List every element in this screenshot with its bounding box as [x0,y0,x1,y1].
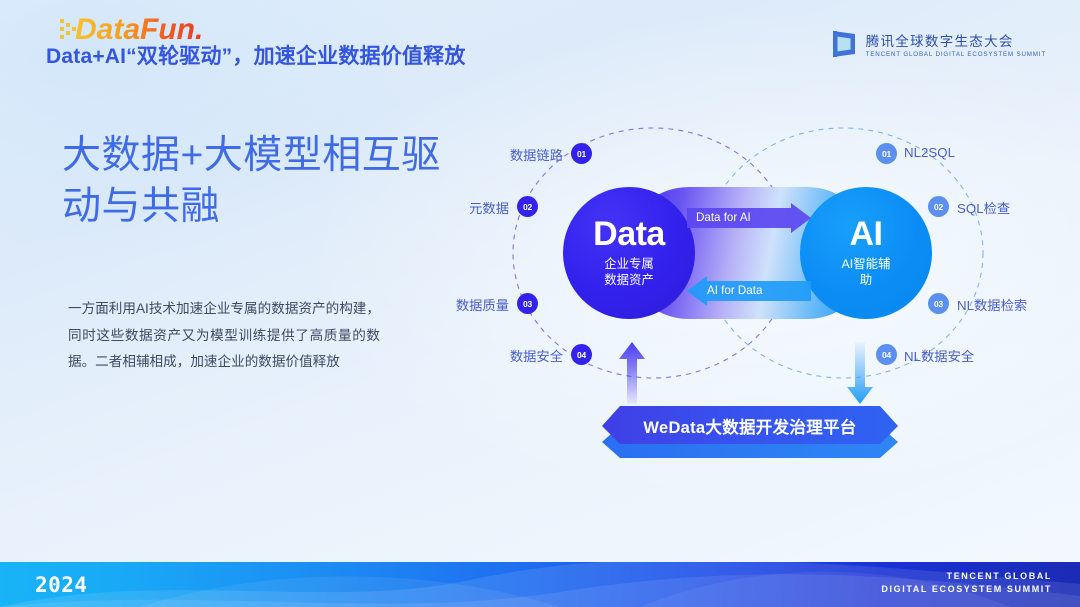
data-circle: Data 企业专属 数据资产 [563,187,695,319]
footer-year: 2024 [35,573,88,597]
footer-summit-name: TENCENT GLOBAL DIGITAL ECOSYSTEM SUMMIT [881,570,1052,596]
tencent-logo-cn: 腾讯全球数字生态大会 [866,30,1046,50]
label-right-03: NL数据检索 [957,295,1027,314]
label-right-04: NL数据安全 [904,346,974,365]
badge-right-03[interactable]: 03 [928,293,949,314]
tencent-logo-en: TENCENT GLOBAL DIGITAL ECOSYSTEM SUMMIT [866,51,1046,58]
label-left-01: 数据链路 [425,145,563,164]
label-right-01: NL2SQL [904,145,955,160]
page-title: Data+AI“双轮驱动”，加速企业数据价值释放 [46,40,466,70]
up-arrow-icon [619,342,645,404]
badge-right-04[interactable]: 04 [876,344,897,365]
ai-for-data-label: AI for Data [707,284,762,297]
down-arrow-icon [847,342,873,404]
badge-left-04[interactable]: 04 [571,344,592,365]
slide-canvas: DataFun. Data+AI“双轮驱动”，加速企业数据价值释放 腾讯全球数字… [0,0,1080,607]
wedata-platform-bar[interactable]: WeData大数据开发治理平台 [602,404,898,462]
ai-circle-sub2: 助 [842,273,891,289]
label-right-02: SQL检查 [957,198,1010,217]
badge-right-02[interactable]: 02 [928,196,949,217]
footer-line-2: DIGITAL ECOSYSTEM SUMMIT [881,583,1052,596]
label-left-04: 数据安全 [425,346,563,365]
body-paragraph: 一方面利用AI技术加速企业专属的数据资产的构建，同时这些数据资产又为模型训练提供… [68,296,380,376]
data-circle-title: Data [593,217,665,251]
badge-left-03[interactable]: 03 [517,293,538,314]
ai-circle-title: AI [850,217,883,251]
tencent-mark-icon [831,29,857,59]
data-circle-sub1: 企业专属 [604,257,654,273]
data-circle-sub2: 数据资产 [604,273,654,289]
footer-line-1: TENCENT GLOBAL [881,570,1052,583]
label-left-03: 数据质量 [371,295,509,314]
wedata-platform-label: WeData大数据开发治理平台 [602,414,898,438]
footer-bar: 2024 TENCENT GLOBAL DIGITAL ECOSYSTEM SU… [0,562,1080,607]
badge-right-01[interactable]: 01 [876,143,897,164]
ai-circle: AI AI智能辅 助 [800,187,932,319]
badge-left-02[interactable]: 02 [517,196,538,217]
label-left-02: 元数据 [371,198,509,217]
tencent-summit-logo: 腾讯全球数字生态大会 TENCENT GLOBAL DIGITAL ECOSYS… [831,29,1046,59]
headline: 大数据+大模型相互驱动与共融 [62,131,452,232]
badge-left-01[interactable]: 01 [571,143,592,164]
ai-circle-sub1: AI智能辅 [842,257,891,273]
data-for-ai-label: Data for AI [696,211,751,224]
